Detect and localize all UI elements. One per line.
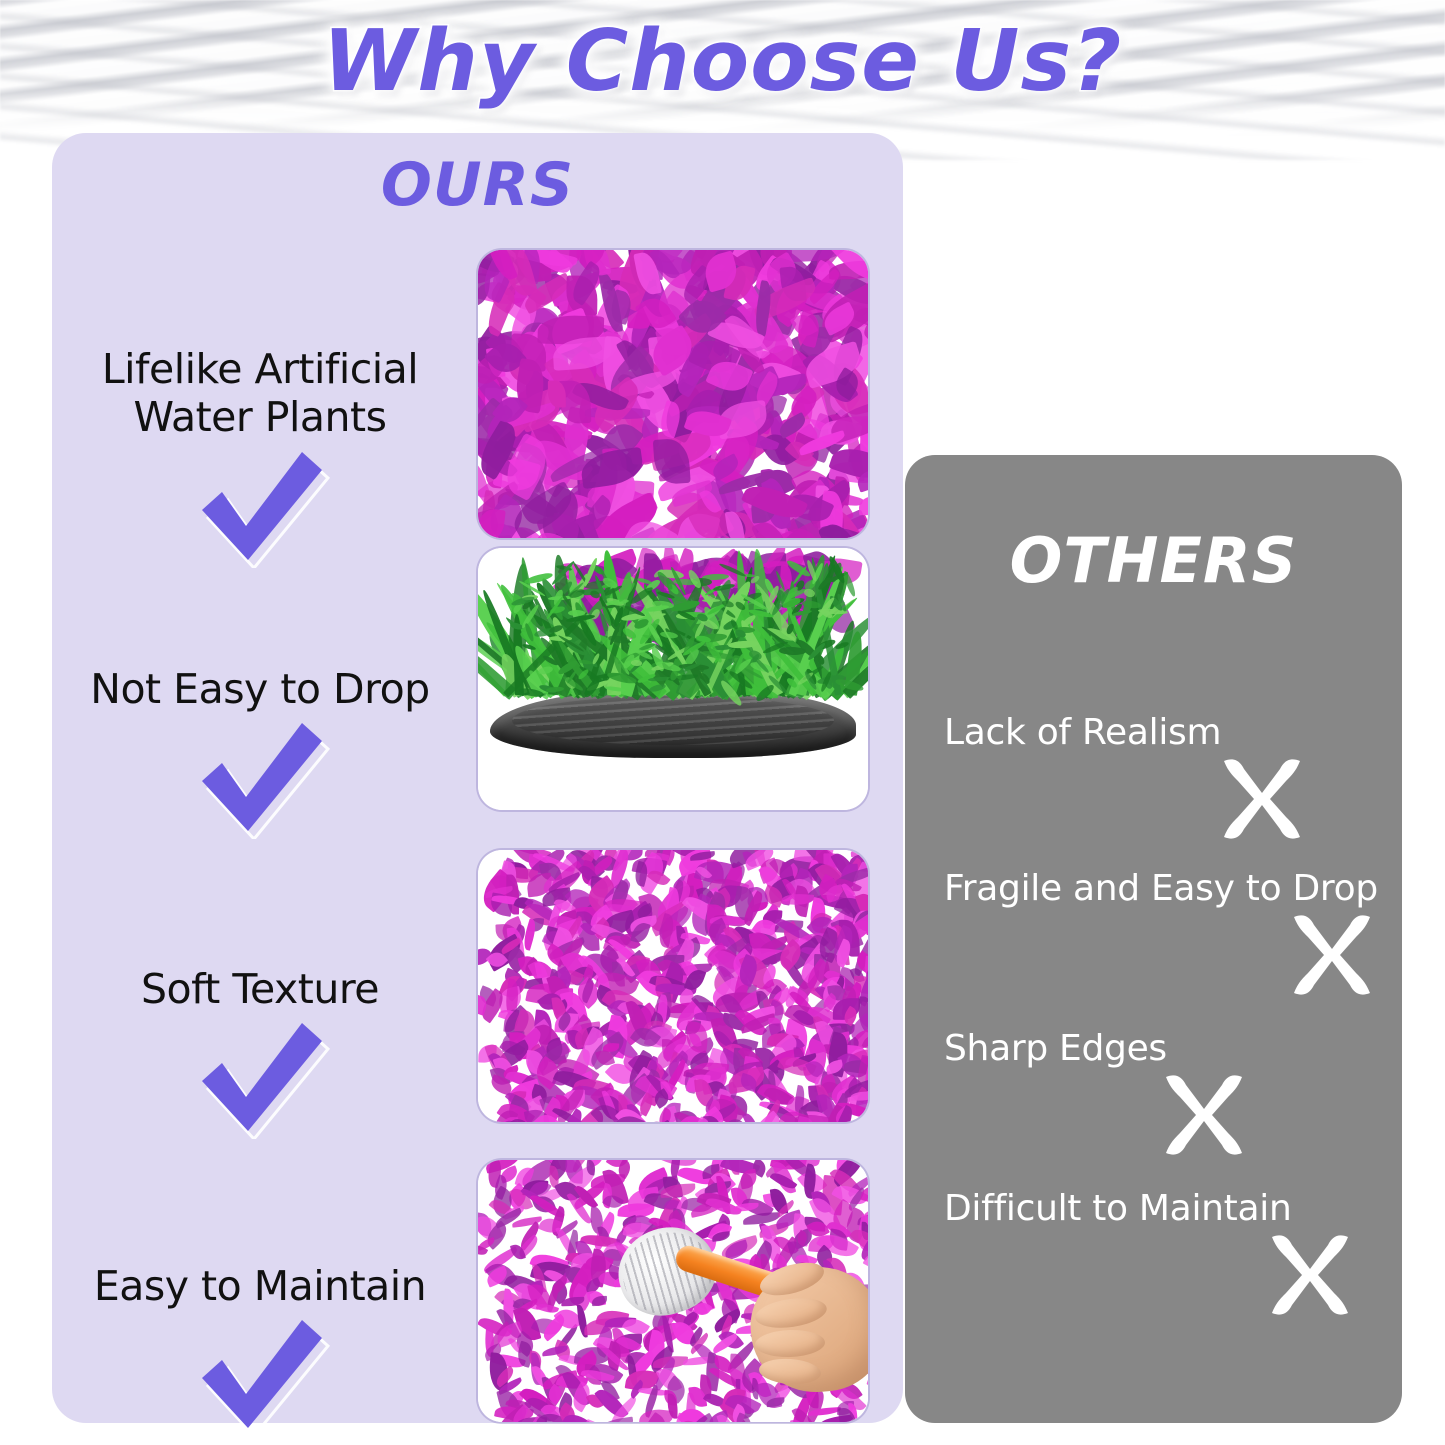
check-icon-1-wrap [60,448,460,568]
check-icon [190,1316,330,1436]
ours-feature-2: Not Easy to Drop [60,665,460,839]
cross-icon-4-wrap [944,1229,1374,1317]
others-item-4: Difficult to Maintain [944,1188,1374,1317]
cross-icon-2-wrap [944,909,1384,997]
ours-feature-3-label: Soft Texture [60,965,460,1013]
check-icon-2-wrap [60,719,460,839]
check-icon [190,1019,330,1139]
cross-icon-3-wrap [944,1069,1374,1157]
plant-closeup-image [478,250,868,538]
others-item-2-label: Fragile and Easy to Drop [944,868,1384,909]
others-item-1: Lack of Realism [944,712,1374,841]
cross-icon [1214,755,1310,843]
page-title-text: Why Choose Us? [323,12,1123,111]
check-icon [190,448,330,568]
ours-heading: OURS [52,150,903,220]
others-item-2: Fragile and Easy to Drop [944,868,1384,997]
cross-icon [1262,1231,1358,1319]
ours-feature-1: Lifelike Artificial Water Plants [60,345,460,568]
cross-icon [1284,911,1380,999]
plant-strands-image [478,850,868,1122]
others-heading: OTHERS [905,524,1402,597]
page-title: Why Choose Us? [0,6,1445,116]
ours-feature-1-label: Lifelike Artificial Water Plants [60,345,460,442]
ours-feature-2-label: Not Easy to Drop [60,665,460,713]
ours-photo-2 [478,548,868,810]
others-item-4-label: Difficult to Maintain [944,1188,1374,1229]
ours-feature-4: Easy to Maintain [60,1262,460,1436]
others-item-3-label: Sharp Edges [944,1028,1374,1069]
ours-feature-4-label: Easy to Maintain [60,1262,460,1310]
cross-icon [1156,1071,1252,1159]
ornament-on-log-image [478,548,868,810]
cross-icon-1-wrap [944,753,1374,841]
ours-photo-3 [478,850,868,1122]
ours-feature-3: Soft Texture [60,965,460,1139]
ours-photo-1 [478,250,868,538]
check-icon-3-wrap [60,1019,460,1139]
check-icon-4-wrap [60,1316,460,1436]
ours-photo-4 [478,1160,868,1422]
others-item-3: Sharp Edges [944,1028,1374,1157]
check-icon [190,719,330,839]
comparison-infographic: Why Choose Us? OURS Lifelike Artificial … [0,0,1445,1445]
brush-cleaning-image [478,1160,868,1422]
others-item-1-label: Lack of Realism [944,712,1374,753]
